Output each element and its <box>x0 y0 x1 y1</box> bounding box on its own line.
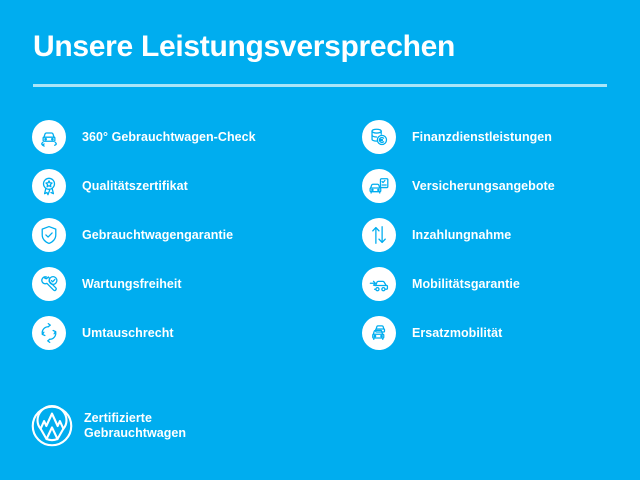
shield-check-icon <box>32 218 66 252</box>
feature-grid: 360° Gebrauchtwagen-Check Qualitätszerti… <box>0 120 640 365</box>
header: Unsere Leistungsversprechen <box>33 28 607 66</box>
car-arrow-icon <box>362 267 396 301</box>
feature-item-quality-certificate[interactable]: Qualitätszertifikat <box>32 169 332 203</box>
volkswagen-logo-icon <box>30 404 74 448</box>
feature-label: Versicherungsangebote <box>412 179 555 194</box>
feature-label: Gebrauchtwagengarantie <box>82 228 233 243</box>
quality-rosette-icon <box>32 169 66 203</box>
feature-column-right: Finanzdienstleistungen Versicheru <box>362 120 632 365</box>
feature-item-trade-in[interactable]: Inzahlungnahme <box>362 218 632 252</box>
wrench-check-icon <box>32 267 66 301</box>
feature-item-exchange-right[interactable]: Umtauschrecht <box>32 316 332 350</box>
feature-item-360-check[interactable]: 360° Gebrauchtwagen-Check <box>32 120 332 154</box>
feature-item-replacement-mobility[interactable]: Ersatzmobilität <box>362 316 632 350</box>
feature-item-insurance-offers[interactable]: Versicherungsangebote <box>362 169 632 203</box>
feature-label: Finanzdienstleistungen <box>412 130 552 145</box>
car-360-check-icon <box>32 120 66 154</box>
feature-item-maintenance-free[interactable]: Wartungsfreiheit <box>32 267 332 301</box>
exchange-arrows-icon <box>32 316 66 350</box>
up-down-arrows-icon <box>362 218 396 252</box>
feature-label: Ersatzmobilität <box>412 326 502 341</box>
two-cars-icon <box>362 316 396 350</box>
feature-label: 360° Gebrauchtwagen-Check <box>82 130 256 145</box>
feature-item-mobility-guarantee[interactable]: Mobilitätsgarantie <box>362 267 632 301</box>
feature-column-left: 360° Gebrauchtwagen-Check Qualitätszerti… <box>32 120 332 365</box>
feature-label: Mobilitätsgarantie <box>412 277 520 292</box>
euro-coins-icon <box>362 120 396 154</box>
feature-label: Inzahlungnahme <box>412 228 511 243</box>
brand-lockup: Zertifizierte Gebrauchtwagen <box>30 404 186 448</box>
promo-poster: Unsere Leistungsversprechen 3 <box>0 0 640 480</box>
brand-text: Zertifizierte Gebrauchtwagen <box>84 411 186 442</box>
feature-label: Qualitätszertifikat <box>82 179 188 194</box>
feature-item-warranty[interactable]: Gebrauchtwagengarantie <box>32 218 332 252</box>
car-checklist-icon <box>362 169 396 203</box>
feature-item-financial-services[interactable]: Finanzdienstleistungen <box>362 120 632 154</box>
feature-label: Wartungsfreiheit <box>82 277 182 292</box>
brand-line-1: Zertifizierte <box>84 411 186 427</box>
brand-line-2: Gebrauchtwagen <box>84 426 186 442</box>
title-divider <box>33 84 607 87</box>
page-title: Unsere Leistungsversprechen <box>33 28 607 66</box>
feature-label: Umtauschrecht <box>82 326 174 341</box>
